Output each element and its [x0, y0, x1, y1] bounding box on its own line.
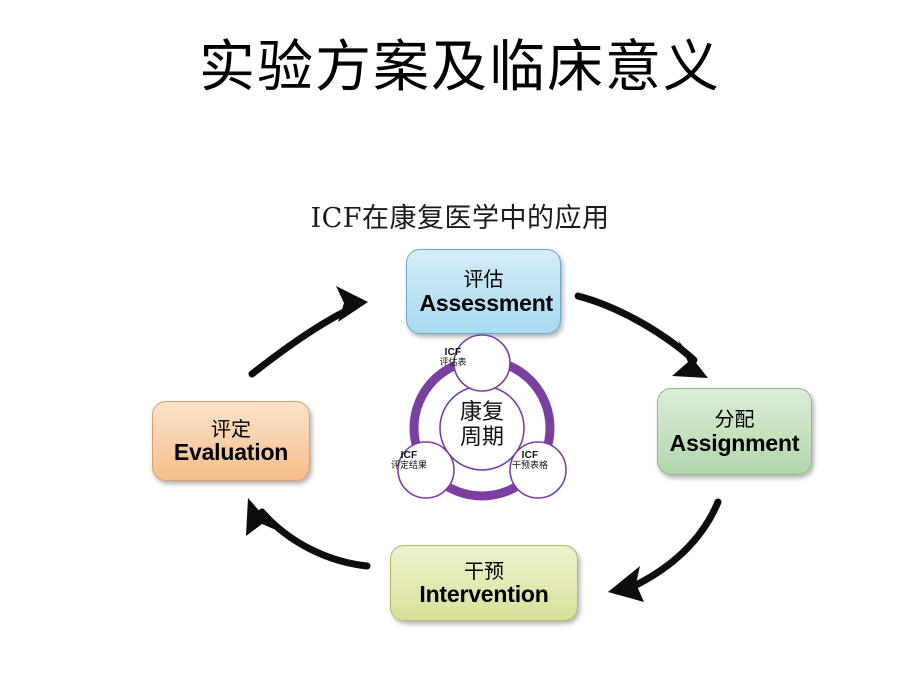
curved-arrow-up-left-icon [232, 492, 387, 604]
diagram-subtitle: ICF在康复医学中的应用 [0, 196, 920, 235]
stage-label-cn-assessment: 评估 [464, 268, 504, 290]
stage-label-en-assessment: Assessment [420, 291, 548, 315]
page-title: 实验方案及临床意义 [0, 36, 920, 100]
stage-box-assessment[interactable]: 评估 Assessment [406, 249, 561, 334]
rehabilitation-cycle-wheel: 康复 周期 ICF 评估表 ICF 干预表格 ICF 评定结果 [372, 333, 592, 523]
stage-label-cn-evaluation: 评定 [211, 418, 251, 440]
curved-arrow-down-left-icon [578, 496, 733, 608]
slide-canvas: 实验方案及临床意义 ICF在康复医学中的应用 评估 Assessment 分配 … [0, 0, 920, 690]
stage-label-cn-assignment: 分配 [715, 408, 755, 430]
curved-arrow-up-right-icon [240, 278, 390, 390]
stage-label-en-assignment: Assignment [669, 431, 801, 455]
stage-box-intervention[interactable]: 干预 Intervention [390, 545, 578, 621]
stage-label-en-intervention: Intervention [419, 582, 548, 606]
wheel-node-icf-intervention-form [510, 442, 566, 498]
stage-box-evaluation[interactable]: 评定 Evaluation [152, 401, 310, 481]
stage-label-en-evaluation: Evaluation [174, 440, 288, 464]
wheel-node-icf-evaluation-result [398, 442, 454, 498]
wheel-node-icf-assessment-form [454, 335, 510, 391]
stage-label-cn-intervention: 干预 [464, 560, 504, 582]
stage-box-assignment[interactable]: 分配 Assignment [657, 388, 812, 475]
